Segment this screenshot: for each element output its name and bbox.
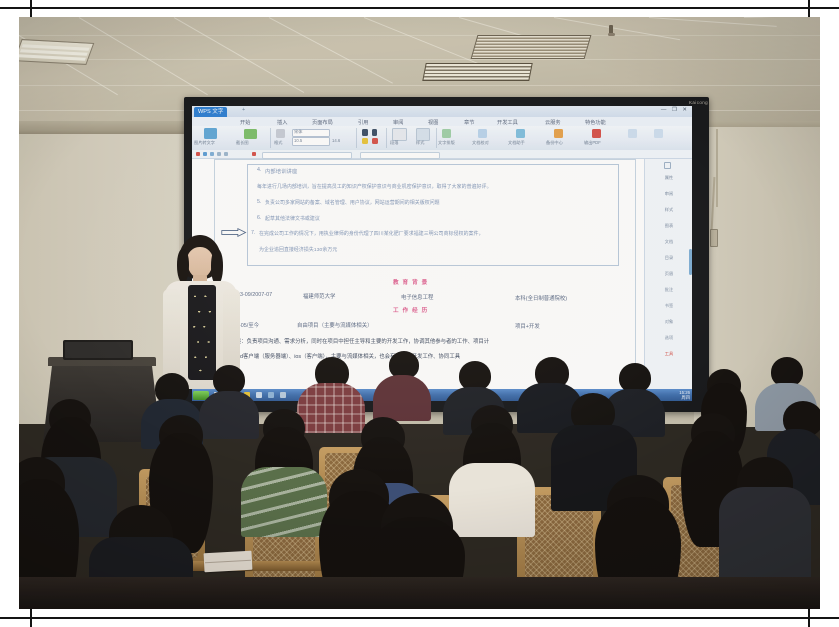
- menu-item-9[interactable]: 特色功能: [585, 119, 606, 126]
- task-pane-item-2[interactable]: 样式: [645, 207, 692, 213]
- doc-list-item-7-text: 在完成公司工作的情况下，用执业律师的身份代理了四川某化肥厂要求福建三明公司商标侵…: [259, 230, 484, 237]
- doc-list-item-4-text: 内部培训讲座: [265, 167, 297, 175]
- ribbon-label-proofread: 文档校对: [472, 140, 489, 146]
- wps-document-tab[interactable]: WPS 文字: [194, 107, 227, 117]
- font-color-button[interactable]: [372, 138, 378, 144]
- ribbon-label-backup: 备份中心: [546, 140, 563, 146]
- audience-body-m5: [449, 463, 535, 537]
- audience-body-b2: [199, 391, 259, 439]
- menu-item-2[interactable]: 页面布局: [312, 119, 333, 126]
- new-tab-plus-icon[interactable]: +: [242, 107, 245, 113]
- lectern-monitor: [63, 340, 133, 360]
- font-size-alt-value: 14.6: [332, 138, 340, 143]
- menu-item-0[interactable]: 开始: [240, 119, 250, 126]
- qat-open-icon[interactable]: [203, 152, 207, 156]
- menu-item-6[interactable]: 章节: [464, 119, 474, 126]
- ribbon-label-export-pdf: 输出PDF: [584, 140, 601, 146]
- resume-education-degree: 本科(全日制普通院校): [515, 294, 567, 302]
- font-name-value: 宋体: [294, 129, 302, 135]
- lecture-hall-photograph: Kaicong WPS 文字 + — ❐ ✕ 开始 插入 页面布局 引用 审阅 …: [19, 17, 820, 609]
- menu-item-8[interactable]: 云服务: [545, 119, 561, 126]
- ribbon-icon-image-to-text[interactable]: [204, 128, 217, 139]
- document-page[interactable]: 4. 内部培训讲座 每年进行几场内部培训，旨在提高员工的知识产权保护意识与商业机…: [214, 159, 636, 391]
- font-size-value: 10.5: [294, 138, 302, 143]
- ribbon-icon-screenshot[interactable]: [244, 129, 257, 139]
- qat-save-icon[interactable]: [196, 152, 200, 156]
- ribbon-label-image-to-text: 图片转文字: [194, 140, 215, 146]
- taskbar-icon-6[interactable]: [268, 392, 274, 398]
- resume-education-heading: 教 育 背 景: [393, 278, 428, 286]
- ceiling-air-vent-2: [422, 63, 532, 81]
- cable-connector: [710, 229, 718, 247]
- task-pane-item-11[interactable]: 工具: [645, 351, 692, 357]
- doc-list-item-6-num: 6.: [257, 215, 262, 221]
- photo-frame: Kaicong WPS 文字 + — ❐ ✕ 开始 插入 页面布局 引用 审阅 …: [0, 0, 839, 627]
- taskbar-icon-7[interactable]: [280, 392, 286, 398]
- qat-redo-icon[interactable]: [224, 152, 228, 156]
- qat-field-2[interactable]: [360, 152, 440, 160]
- text-layout-button[interactable]: [442, 129, 451, 138]
- hanging-cable: [716, 129, 718, 207]
- wps-ribbon: 图片转文字 截长图 格式 宋体 10.5 14.6: [192, 126, 692, 151]
- doc-list-item-7-cont: 为企业追回直接经济损失130余万元: [259, 246, 337, 253]
- proofread-button[interactable]: [478, 129, 487, 138]
- frame-line-top: [0, 7, 839, 9]
- frame-line-bottom: [0, 617, 839, 619]
- wps-menu-bar: 开始 插入 页面布局 引用 审阅 视图 章节 开发工具 云服务 特色功能: [192, 117, 692, 126]
- task-pane-item-6[interactable]: 页眉: [645, 271, 692, 277]
- qat-print-icon[interactable]: [210, 152, 214, 156]
- doc-list-item-6-text: 起草其他法律文书或建议: [265, 215, 320, 222]
- ribbon-label-style: 样式: [416, 140, 424, 146]
- foreground-floor: [19, 577, 820, 609]
- task-pane-item-3[interactable]: 图表: [645, 223, 692, 229]
- screen-brand-label: Kaicong: [689, 100, 708, 105]
- qat-styles-icon[interactable]: [252, 152, 256, 156]
- ceiling-air-vent-1: [471, 35, 592, 59]
- presenter-hair-side: [177, 249, 189, 283]
- audience-body-m3: [241, 467, 327, 537]
- resume-work-org: 自由项目（主要与流媒体相关）: [297, 321, 372, 329]
- taskbar-clock-date: 周四: [681, 395, 690, 400]
- task-pane-item-7[interactable]: 批注: [645, 287, 692, 293]
- task-pane-item-10[interactable]: 选项: [645, 335, 692, 341]
- qat-field-1[interactable]: [262, 152, 352, 160]
- quick-access-toolbar: [192, 150, 692, 159]
- backup-center-button[interactable]: [554, 129, 563, 138]
- menu-item-4[interactable]: 审阅: [393, 119, 403, 126]
- presenter-dress: [188, 285, 216, 380]
- task-pane-item-8[interactable]: 书签: [645, 303, 692, 309]
- taskbar-clock[interactable]: 15:26 周四: [679, 391, 690, 400]
- task-pane-item-4[interactable]: 文档: [645, 239, 692, 245]
- qat-undo-icon[interactable]: [217, 152, 221, 156]
- resume-work-role: 项目+开发: [515, 322, 540, 330]
- sprinkler-head-1: [609, 25, 613, 35]
- task-pane[interactable]: 属性 审阅 样式 图表 文档 目录 页眉 批注 书签 对象 选项 工具: [644, 159, 692, 389]
- ribbon-icon-extra-2[interactable]: [654, 129, 663, 138]
- doc-paragraph-training: 每年进行几场内部培训，旨在提高员工的知识产权保护意识与商业机密保护意识，取得了大…: [257, 183, 492, 190]
- resume-education-school: 福建师范大学: [303, 292, 335, 300]
- ribbon-label-paragraph: 段落: [390, 140, 398, 146]
- ribbon-label-format: 格式: [274, 140, 282, 146]
- desk-edge-1: [169, 561, 339, 571]
- menu-item-7[interactable]: 开发工具: [497, 119, 518, 126]
- export-pdf-button[interactable]: [592, 129, 601, 138]
- presenter-hair-side-right: [211, 249, 223, 285]
- task-pane-scroll-thumb[interactable]: [689, 249, 692, 275]
- resume-education-major: 电子信息工程: [401, 293, 433, 301]
- audience-body-b3: [297, 383, 365, 433]
- task-pane-toggle-icon[interactable]: [664, 162, 671, 169]
- open-booklet: [204, 551, 253, 572]
- resume-detail-line-1: 要描述：负责项目沟通、需求分析，同时在项目中担任主导和主要的开发工作，协调其他参…: [225, 337, 489, 345]
- menu-item-1[interactable]: 插入: [277, 119, 287, 126]
- audience-body-b4: [373, 375, 431, 421]
- doc-list-item-4-num: 4.: [257, 167, 262, 173]
- ribbon-label-doc-assistant: 文档助手: [508, 140, 525, 146]
- ribbon-icon-extra-1[interactable]: [628, 129, 637, 138]
- ribbon-label-text-layout: 文字排版: [438, 140, 455, 146]
- menu-item-3[interactable]: 引用: [358, 119, 368, 126]
- window-controls[interactable]: — ❐ ✕: [661, 107, 689, 113]
- menu-item-5[interactable]: 视图: [428, 119, 438, 126]
- task-pane-item-0[interactable]: 属性: [645, 175, 692, 181]
- bold-button[interactable]: [362, 129, 368, 136]
- doc-assistant-button[interactable]: [516, 129, 525, 138]
- wps-title-bar: WPS 文字 + — ❐ ✕: [192, 106, 692, 117]
- resume-work-heading: 工 作 经 历: [393, 306, 428, 314]
- task-pane-item-5[interactable]: 目录: [645, 255, 692, 261]
- highlight-button[interactable]: [362, 138, 368, 144]
- projected-display[interactable]: WPS 文字 + — ❐ ✕ 开始 插入 页面布局 引用 审阅 视图 章节 开发…: [192, 106, 692, 401]
- ceiling-fluorescent-light: [19, 39, 94, 65]
- task-pane-item-1[interactable]: 审阅: [645, 191, 692, 197]
- ribbon-label-screenshot: 截长图: [236, 140, 249, 146]
- ribbon-icon-format-brush[interactable]: [276, 129, 285, 138]
- italic-button[interactable]: [372, 129, 377, 136]
- doc-list-item-5-num: 5.: [257, 199, 262, 205]
- presenter-left-arm: [163, 289, 180, 381]
- doc-list-item-5-text: 负责公司多家网站的备案、域名管理、用户协议，网站运营期间的相关版权问题: [265, 199, 440, 206]
- task-pane-item-9[interactable]: 对象: [645, 319, 692, 325]
